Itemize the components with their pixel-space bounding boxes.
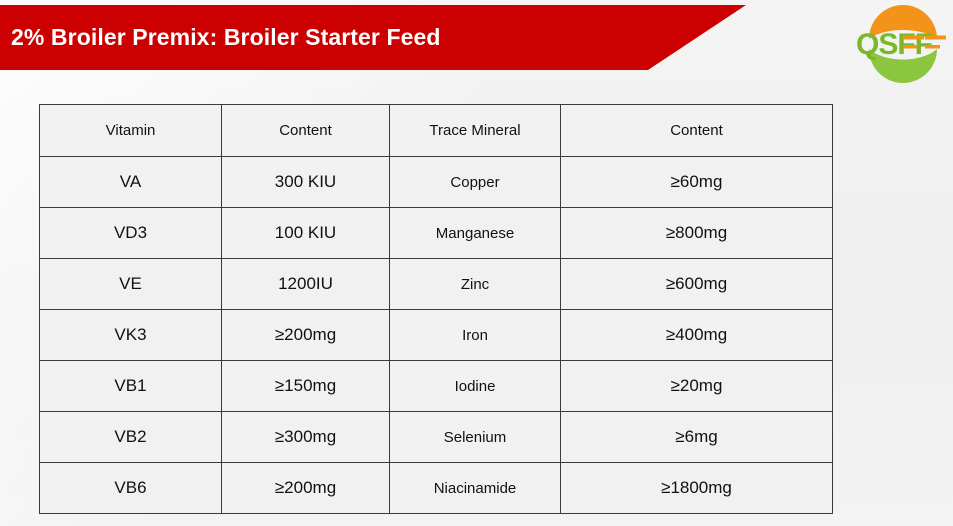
- cell-vitamin-content: ≥200mg: [222, 463, 390, 514]
- table-row: VB1 ≥150mg Iodine ≥20mg: [40, 361, 833, 412]
- cell-mineral: Iodine: [390, 361, 561, 412]
- nutrition-table: Vitamin Content Trace Mineral Content VA…: [39, 104, 833, 514]
- table-row: VE 1200IU Zinc ≥600mg: [40, 259, 833, 310]
- cell-vitamin: VB1: [40, 361, 222, 412]
- table-row: VB6 ≥200mg Niacinamide ≥1800mg: [40, 463, 833, 514]
- slide-background: 2% Broiler Premix: Broiler Starter Feed …: [0, 0, 953, 526]
- table-row: VD3 100 KIU Manganese ≥800mg: [40, 208, 833, 259]
- cell-mineral: Iron: [390, 310, 561, 361]
- table-row: VA 300 KIU Copper ≥60mg: [40, 157, 833, 208]
- cell-vitamin-content: 1200IU: [222, 259, 390, 310]
- cell-mineral-content: ≥1800mg: [561, 463, 833, 514]
- qsff-logo: QSFF: [853, 3, 953, 83]
- cell-mineral-content: ≥6mg: [561, 412, 833, 463]
- cell-vitamin-content: 100 KIU: [222, 208, 390, 259]
- column-header-vitamin-content: Content: [222, 105, 390, 157]
- cell-vitamin-content: ≥300mg: [222, 412, 390, 463]
- cell-mineral: Zinc: [390, 259, 561, 310]
- cell-mineral: Copper: [390, 157, 561, 208]
- cell-mineral: Niacinamide: [390, 463, 561, 514]
- cell-vitamin-content: 300 KIU: [222, 157, 390, 208]
- cell-mineral-content: ≥20mg: [561, 361, 833, 412]
- cell-vitamin: VD3: [40, 208, 222, 259]
- table-row: VK3 ≥200mg Iron ≥400mg: [40, 310, 833, 361]
- cell-vitamin: VB2: [40, 412, 222, 463]
- cell-vitamin: VE: [40, 259, 222, 310]
- cell-mineral-content: ≥60mg: [561, 157, 833, 208]
- svg-text:QSFF: QSFF: [856, 28, 933, 61]
- title-banner: 2% Broiler Premix: Broiler Starter Feed: [0, 5, 746, 70]
- cell-vitamin: VA: [40, 157, 222, 208]
- column-header-mineral-content: Content: [561, 105, 833, 157]
- cell-mineral: Selenium: [390, 412, 561, 463]
- table-row: VB2 ≥300mg Selenium ≥6mg: [40, 412, 833, 463]
- cell-vitamin: VB6: [40, 463, 222, 514]
- cell-vitamin: VK3: [40, 310, 222, 361]
- cell-mineral-content: ≥400mg: [561, 310, 833, 361]
- page-title: 2% Broiler Premix: Broiler Starter Feed: [0, 26, 441, 49]
- cell-mineral: Manganese: [390, 208, 561, 259]
- column-header-trace-mineral: Trace Mineral: [390, 105, 561, 157]
- table-header-row: Vitamin Content Trace Mineral Content: [40, 105, 833, 157]
- cell-mineral-content: ≥600mg: [561, 259, 833, 310]
- cell-vitamin-content: ≥200mg: [222, 310, 390, 361]
- cell-vitamin-content: ≥150mg: [222, 361, 390, 412]
- column-header-vitamin: Vitamin: [40, 105, 222, 157]
- cell-mineral-content: ≥800mg: [561, 208, 833, 259]
